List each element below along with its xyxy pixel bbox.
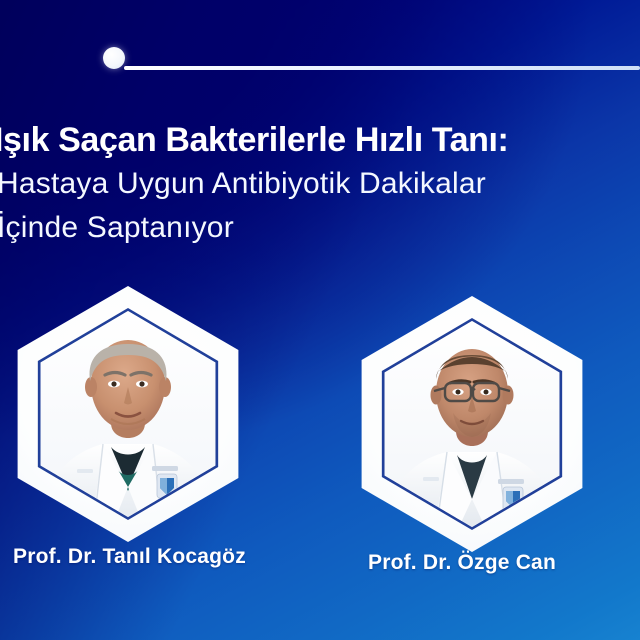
- person-card-right: [352, 296, 592, 552]
- headline-line-2: Hastaya Uygun Antibiyotik Dakikalar: [0, 162, 640, 206]
- headline-block: Işık Saçan Bakterilerle Hızlı Tanı: Hast…: [0, 118, 640, 250]
- headline-line-1: Işık Saçan Bakterilerle Hızlı Tanı:: [0, 118, 640, 162]
- person-name-left: Prof. Dr. Tanıl Kocagöz: [13, 545, 246, 569]
- header-rule: [124, 66, 640, 70]
- headline-line-3: İçinde Saptanıyor: [0, 206, 640, 250]
- poster-canvas: Işık Saçan Bakterilerle Hızlı Tanı: Hast…: [0, 0, 640, 640]
- person-name-right: Prof. Dr. Özge Can: [368, 551, 556, 575]
- header-dot-icon: [103, 47, 125, 69]
- person-card-left: [8, 286, 248, 542]
